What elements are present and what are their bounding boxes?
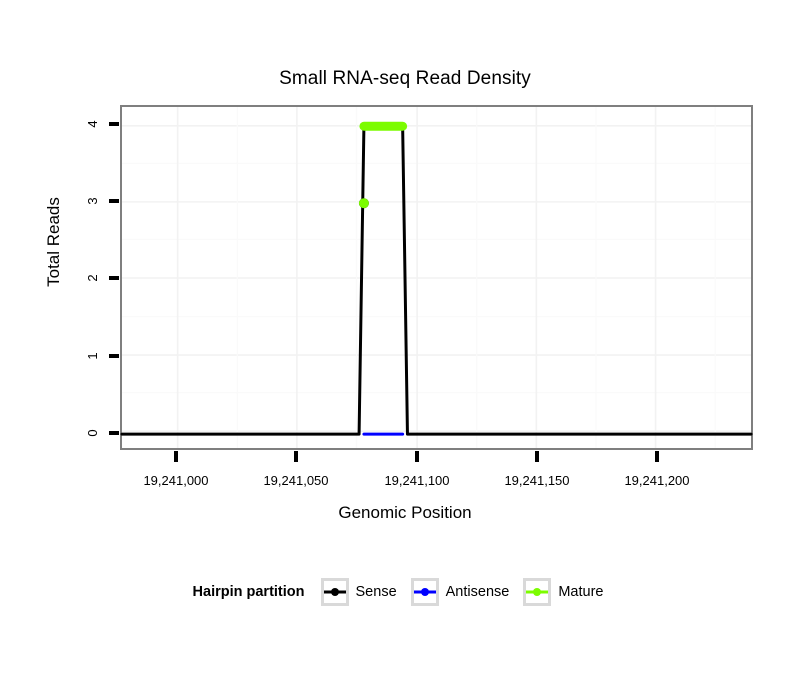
legend-label-sense: Sense xyxy=(356,584,397,600)
chart-figure: Small RNA-seq Read Density Total Reads 4… xyxy=(0,0,810,690)
x-axis-title: Genomic Position xyxy=(0,503,810,523)
y-tick-label-4: 4 xyxy=(86,111,100,137)
data-point-mature xyxy=(359,198,369,208)
legend-label-mature: Mature xyxy=(558,584,603,600)
legend-entry-antisense[interactable]: Antisense xyxy=(411,578,510,606)
plot-panel xyxy=(120,105,753,450)
data-series-layer xyxy=(122,107,751,448)
legend: Hairpin partition Sense Antisense Mature xyxy=(0,578,810,606)
legend-label-antisense: Antisense xyxy=(446,584,510,600)
x-tick-mark-0 xyxy=(174,451,178,462)
y-tick-mark-4 xyxy=(109,122,119,126)
chart-title: Small RNA-seq Read Density xyxy=(0,68,810,90)
legend-key-dot-mature xyxy=(533,588,541,596)
y-tick-label-1: 1 xyxy=(86,343,100,369)
x-tick-mark-1 xyxy=(294,451,298,462)
legend-key-antisense xyxy=(411,578,439,606)
x-tick-label-3: 19,241,150 xyxy=(467,473,607,488)
legend-entry-sense[interactable]: Sense xyxy=(321,578,397,606)
series-line-sense xyxy=(122,126,751,434)
x-tick-mark-3 xyxy=(535,451,539,462)
y-tick-mark-1 xyxy=(109,354,119,358)
x-tick-label-0: 19,241,000 xyxy=(106,473,246,488)
x-tick-label-2: 19,241,100 xyxy=(347,473,487,488)
x-tick-label-4: 19,241,200 xyxy=(587,473,727,488)
legend-title: Hairpin partition xyxy=(193,584,305,600)
x-tick-label-1: 19,241,050 xyxy=(226,473,366,488)
y-tick-label-3: 3 xyxy=(86,188,100,214)
y-tick-mark-0 xyxy=(109,431,119,435)
y-tick-mark-2 xyxy=(109,276,119,280)
x-tick-mark-2 xyxy=(415,451,419,462)
y-tick-mark-3 xyxy=(109,199,119,203)
legend-key-dot-antisense xyxy=(421,588,429,596)
y-axis-title: Total Reads xyxy=(44,182,64,302)
x-tick-mark-4 xyxy=(655,451,659,462)
y-tick-label-2: 2 xyxy=(86,265,100,291)
legend-key-mature xyxy=(523,578,551,606)
y-tick-label-0: 0 xyxy=(86,420,100,446)
legend-key-dot-sense xyxy=(331,588,339,596)
legend-entry-mature[interactable]: Mature xyxy=(523,578,603,606)
legend-key-sense xyxy=(321,578,349,606)
